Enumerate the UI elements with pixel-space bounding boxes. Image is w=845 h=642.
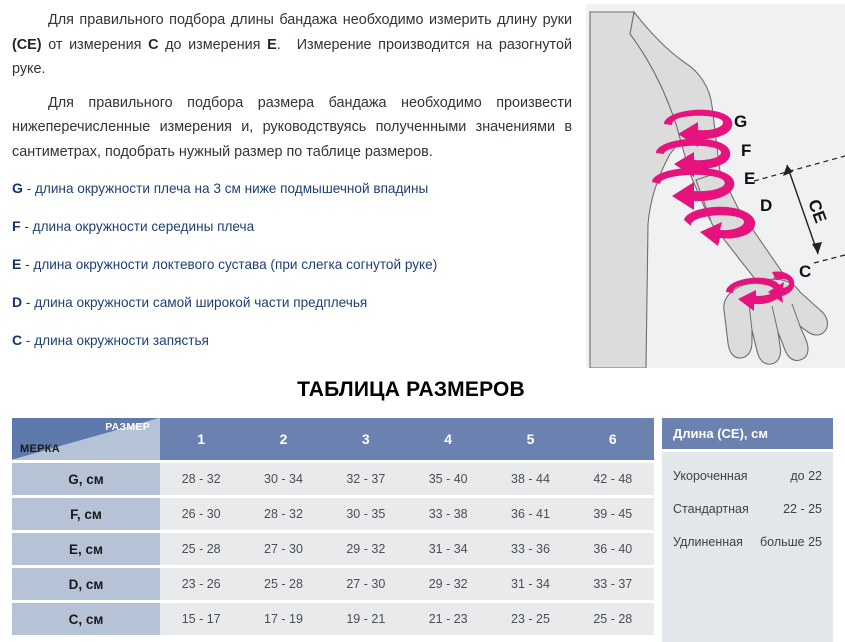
column-header-1: 1 (160, 418, 242, 460)
table-row: E, см 25 - 28 27 - 30 29 - 32 31 - 34 33… (12, 533, 654, 565)
length-name-short: Укороченная (673, 469, 748, 483)
cell-c-2: 17 - 19 (242, 603, 324, 635)
cell-d-5: 31 - 34 (489, 568, 571, 600)
legend-item-f: F - длина окружности середины плеча (12, 217, 572, 236)
row-label-f: F, см (12, 498, 160, 530)
intro-p1-part-b: от измерения (42, 37, 149, 53)
legend-item-d: D - длина окружности самой широкой части… (12, 293, 572, 312)
cell-e-5: 33 - 36 (489, 533, 571, 565)
column-header-5: 5 (489, 418, 571, 460)
legend-text-g: - длина окружности плеча на 3 см ниже по… (27, 181, 429, 196)
cell-f-6: 39 - 45 (572, 498, 654, 530)
legend-text-e: - длина окружности локтевого сустава (пр… (25, 257, 437, 272)
table-row: D, см 23 - 26 25 - 28 27 - 30 29 - 32 31… (12, 568, 654, 600)
length-row-standard: Стандартная 22 - 25 (673, 502, 822, 516)
table-row: C, см 15 - 17 17 - 19 19 - 21 21 - 23 23… (12, 603, 654, 635)
cell-e-2: 27 - 30 (242, 533, 324, 565)
band-label-d: D (760, 196, 772, 215)
cell-e-6: 36 - 40 (572, 533, 654, 565)
cell-d-1: 23 - 26 (160, 568, 242, 600)
row-label-e: E, см (12, 533, 160, 565)
legend-text-f: - длина окружности середины плеча (24, 219, 254, 234)
cell-f-5: 36 - 41 (489, 498, 571, 530)
ce-leader-bottom (814, 255, 845, 263)
length-name-long: Удлиненная (673, 535, 743, 549)
band-label-c: C (799, 262, 811, 281)
intro-paragraph-2: Для правильного подбора размера бандажа … (12, 91, 572, 165)
table-row: F, см 26 - 30 28 - 32 30 - 35 33 - 38 36… (12, 498, 654, 530)
row-cells-g: 28 - 32 30 - 34 32 - 37 35 - 40 38 - 44 … (160, 463, 654, 495)
band-label-e: E (744, 169, 755, 188)
intro-p1-ce: (СЕ) (12, 37, 42, 53)
length-row-short: Укороченная до 22 (673, 469, 822, 483)
legend-item-e: E - длина окружности локтевого сустава (… (12, 255, 572, 274)
ce-dimension-label: CE (804, 197, 830, 226)
column-header-3: 3 (325, 418, 407, 460)
cell-f-1: 26 - 30 (160, 498, 242, 530)
size-table-column-headers: 1 2 3 4 5 6 (160, 418, 654, 460)
measurement-legend: G - длина окружности плеча на 3 см ниже … (12, 179, 572, 369)
ce-leader-top (754, 156, 845, 181)
legend-item-c: C - длина окружности запястья (12, 331, 572, 350)
column-header-4: 4 (407, 418, 489, 460)
length-table-body: Укороченная до 22 Стандартная 22 - 25 Уд… (662, 452, 833, 642)
intro-p1-period: . (277, 37, 281, 53)
length-value-long: больше 25 (760, 535, 822, 549)
intro-text-column: Для правильного подбора длины бандажа не… (0, 0, 580, 173)
cell-f-3: 30 - 35 (325, 498, 407, 530)
cell-c-4: 21 - 23 (407, 603, 489, 635)
intro-p1-e: Е (267, 37, 277, 53)
legend-item-g: G - длина окружности плеча на 3 см ниже … (12, 179, 572, 198)
legend-key-d: D (12, 294, 22, 310)
band-label-g: G (734, 112, 747, 131)
legend-key-f: F (12, 218, 21, 234)
page-title: ТАБЛИЦА РАЗМЕРОВ (0, 378, 822, 402)
cell-c-5: 23 - 25 (489, 603, 571, 635)
intro-p1-part-d: до измерения (158, 37, 267, 53)
cell-d-4: 29 - 32 (407, 568, 489, 600)
row-label-d: D, см (12, 568, 160, 600)
cell-g-3: 32 - 37 (325, 463, 407, 495)
cell-g-2: 30 - 34 (242, 463, 324, 495)
intro-p1-part-a: Для правильного подбора длины бандажа не… (48, 12, 572, 28)
legend-key-c: C (12, 332, 22, 348)
band-label-f: F (741, 141, 751, 160)
row-label-c: C, см (12, 603, 160, 635)
row-cells-d: 23 - 26 25 - 28 27 - 30 29 - 32 31 - 34 … (160, 568, 654, 600)
column-header-6: 6 (572, 418, 654, 460)
size-table-corner-cell: РАЗМЕР МЕРКА (12, 418, 160, 460)
legend-text-d: - длина окружности самой широкой части п… (26, 295, 367, 310)
cell-f-4: 33 - 38 (407, 498, 489, 530)
cell-e-4: 31 - 34 (407, 533, 489, 565)
cell-g-6: 42 - 48 (572, 463, 654, 495)
cell-g-5: 38 - 44 (489, 463, 571, 495)
intro-p1-c: С (148, 37, 158, 53)
cell-c-1: 15 - 17 (160, 603, 242, 635)
arm-diagram-svg: G F E D C CE (586, 4, 845, 368)
cell-c-3: 19 - 21 (325, 603, 407, 635)
cell-d-2: 25 - 28 (242, 568, 324, 600)
length-table-header: Длина (СЕ), см (662, 418, 833, 449)
arm-measurement-illustration: G F E D C CE (586, 4, 845, 368)
row-cells-f: 26 - 30 28 - 32 30 - 35 33 - 38 36 - 41 … (160, 498, 654, 530)
page-root: Для правильного подбора длины бандажа не… (0, 0, 845, 642)
length-table: Длина (СЕ), см Укороченная до 22 Стандар… (662, 418, 833, 642)
intro-paragraph-1: Для правильного подбора длины бандажа не… (12, 8, 572, 82)
cell-d-3: 27 - 30 (325, 568, 407, 600)
length-row-long: Удлиненная больше 25 (673, 535, 822, 549)
cell-g-4: 35 - 40 (407, 463, 489, 495)
corner-label-size: РАЗМЕР (105, 421, 150, 433)
cell-f-2: 28 - 32 (242, 498, 324, 530)
row-label-g: G, см (12, 463, 160, 495)
cell-d-6: 33 - 37 (572, 568, 654, 600)
cell-e-3: 29 - 32 (325, 533, 407, 565)
cell-g-1: 28 - 32 (160, 463, 242, 495)
column-header-2: 2 (242, 418, 324, 460)
cell-c-6: 25 - 28 (572, 603, 654, 635)
table-row: G, см 28 - 32 30 - 34 32 - 37 35 - 40 38… (12, 463, 654, 495)
length-name-standard: Стандартная (673, 502, 749, 516)
cell-e-1: 25 - 28 (160, 533, 242, 565)
corner-label-measure: МЕРКА (20, 443, 60, 455)
row-cells-c: 15 - 17 17 - 19 19 - 21 21 - 23 23 - 25 … (160, 603, 654, 635)
size-table: РАЗМЕР МЕРКА 1 2 3 4 5 6 G, см 28 - 32 3… (12, 418, 654, 635)
legend-key-g: G (12, 180, 23, 196)
length-value-standard: 22 - 25 (783, 502, 822, 516)
row-cells-e: 25 - 28 27 - 30 29 - 32 31 - 34 33 - 36 … (160, 533, 654, 565)
legend-key-e: E (12, 256, 21, 272)
legend-text-c: - длина окружности запястья (26, 333, 209, 348)
size-table-header-row: РАЗМЕР МЕРКА 1 2 3 4 5 6 (12, 418, 654, 460)
length-value-short: до 22 (790, 469, 822, 483)
